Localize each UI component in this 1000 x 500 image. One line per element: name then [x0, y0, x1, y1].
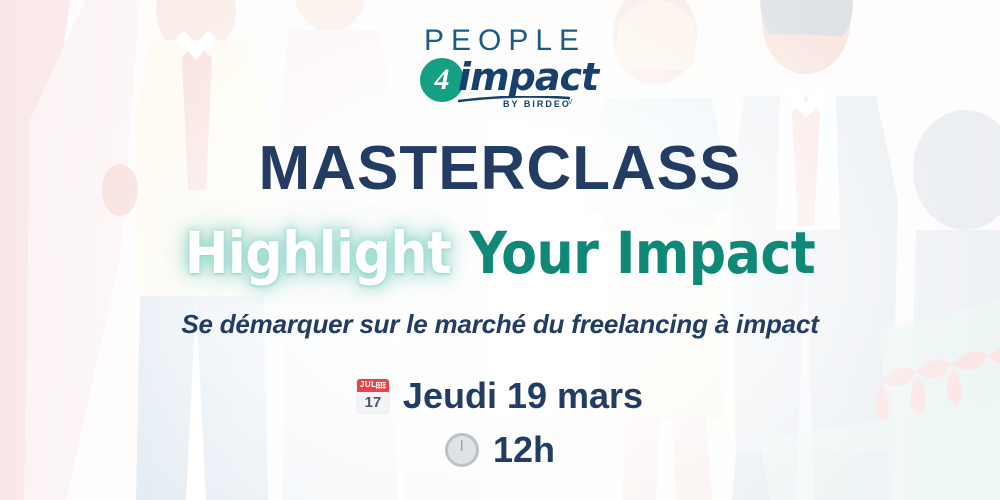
eyebrow-masterclass: MASTERCLASS: [259, 138, 742, 200]
calendar-rings: [376, 382, 386, 389]
clock-icon: [445, 433, 479, 467]
clock-hand: [461, 440, 463, 451]
headline-title: Highlight Your Impact: [185, 222, 816, 285]
logo-byline: BY BIRDEO: [503, 100, 571, 109]
event-date-label: Jeudi 19 mars: [403, 378, 643, 414]
headline-title-highlight: Highlight: [185, 219, 452, 287]
masterclass-promo-banner: PEOPLE 4 impact BY BIRDEO v MASTERCLASS …: [0, 0, 1000, 500]
event-time-row: 12h: [445, 432, 555, 468]
logo-impact-wordmark: impact: [458, 58, 598, 96]
headline-title-rest: Your Impact: [469, 219, 815, 287]
banner-content: PEOPLE 4 impact BY BIRDEO v MASTERCLASS …: [0, 0, 1000, 500]
logo-tick-icon: v: [568, 97, 573, 106]
calendar-icon: JUL 17: [357, 379, 389, 413]
headline-subtitle: Se démarquer sur le marché du freelancin…: [181, 309, 818, 340]
logo-people-wordmark: PEOPLE: [424, 26, 586, 56]
event-time-label: 12h: [493, 432, 555, 468]
brand-logo: PEOPLE 4 impact BY BIRDEO v: [400, 14, 600, 110]
calendar-day-label: 17: [357, 392, 389, 413]
event-date-row: JUL 17 Jeudi 19 mars: [357, 378, 643, 414]
